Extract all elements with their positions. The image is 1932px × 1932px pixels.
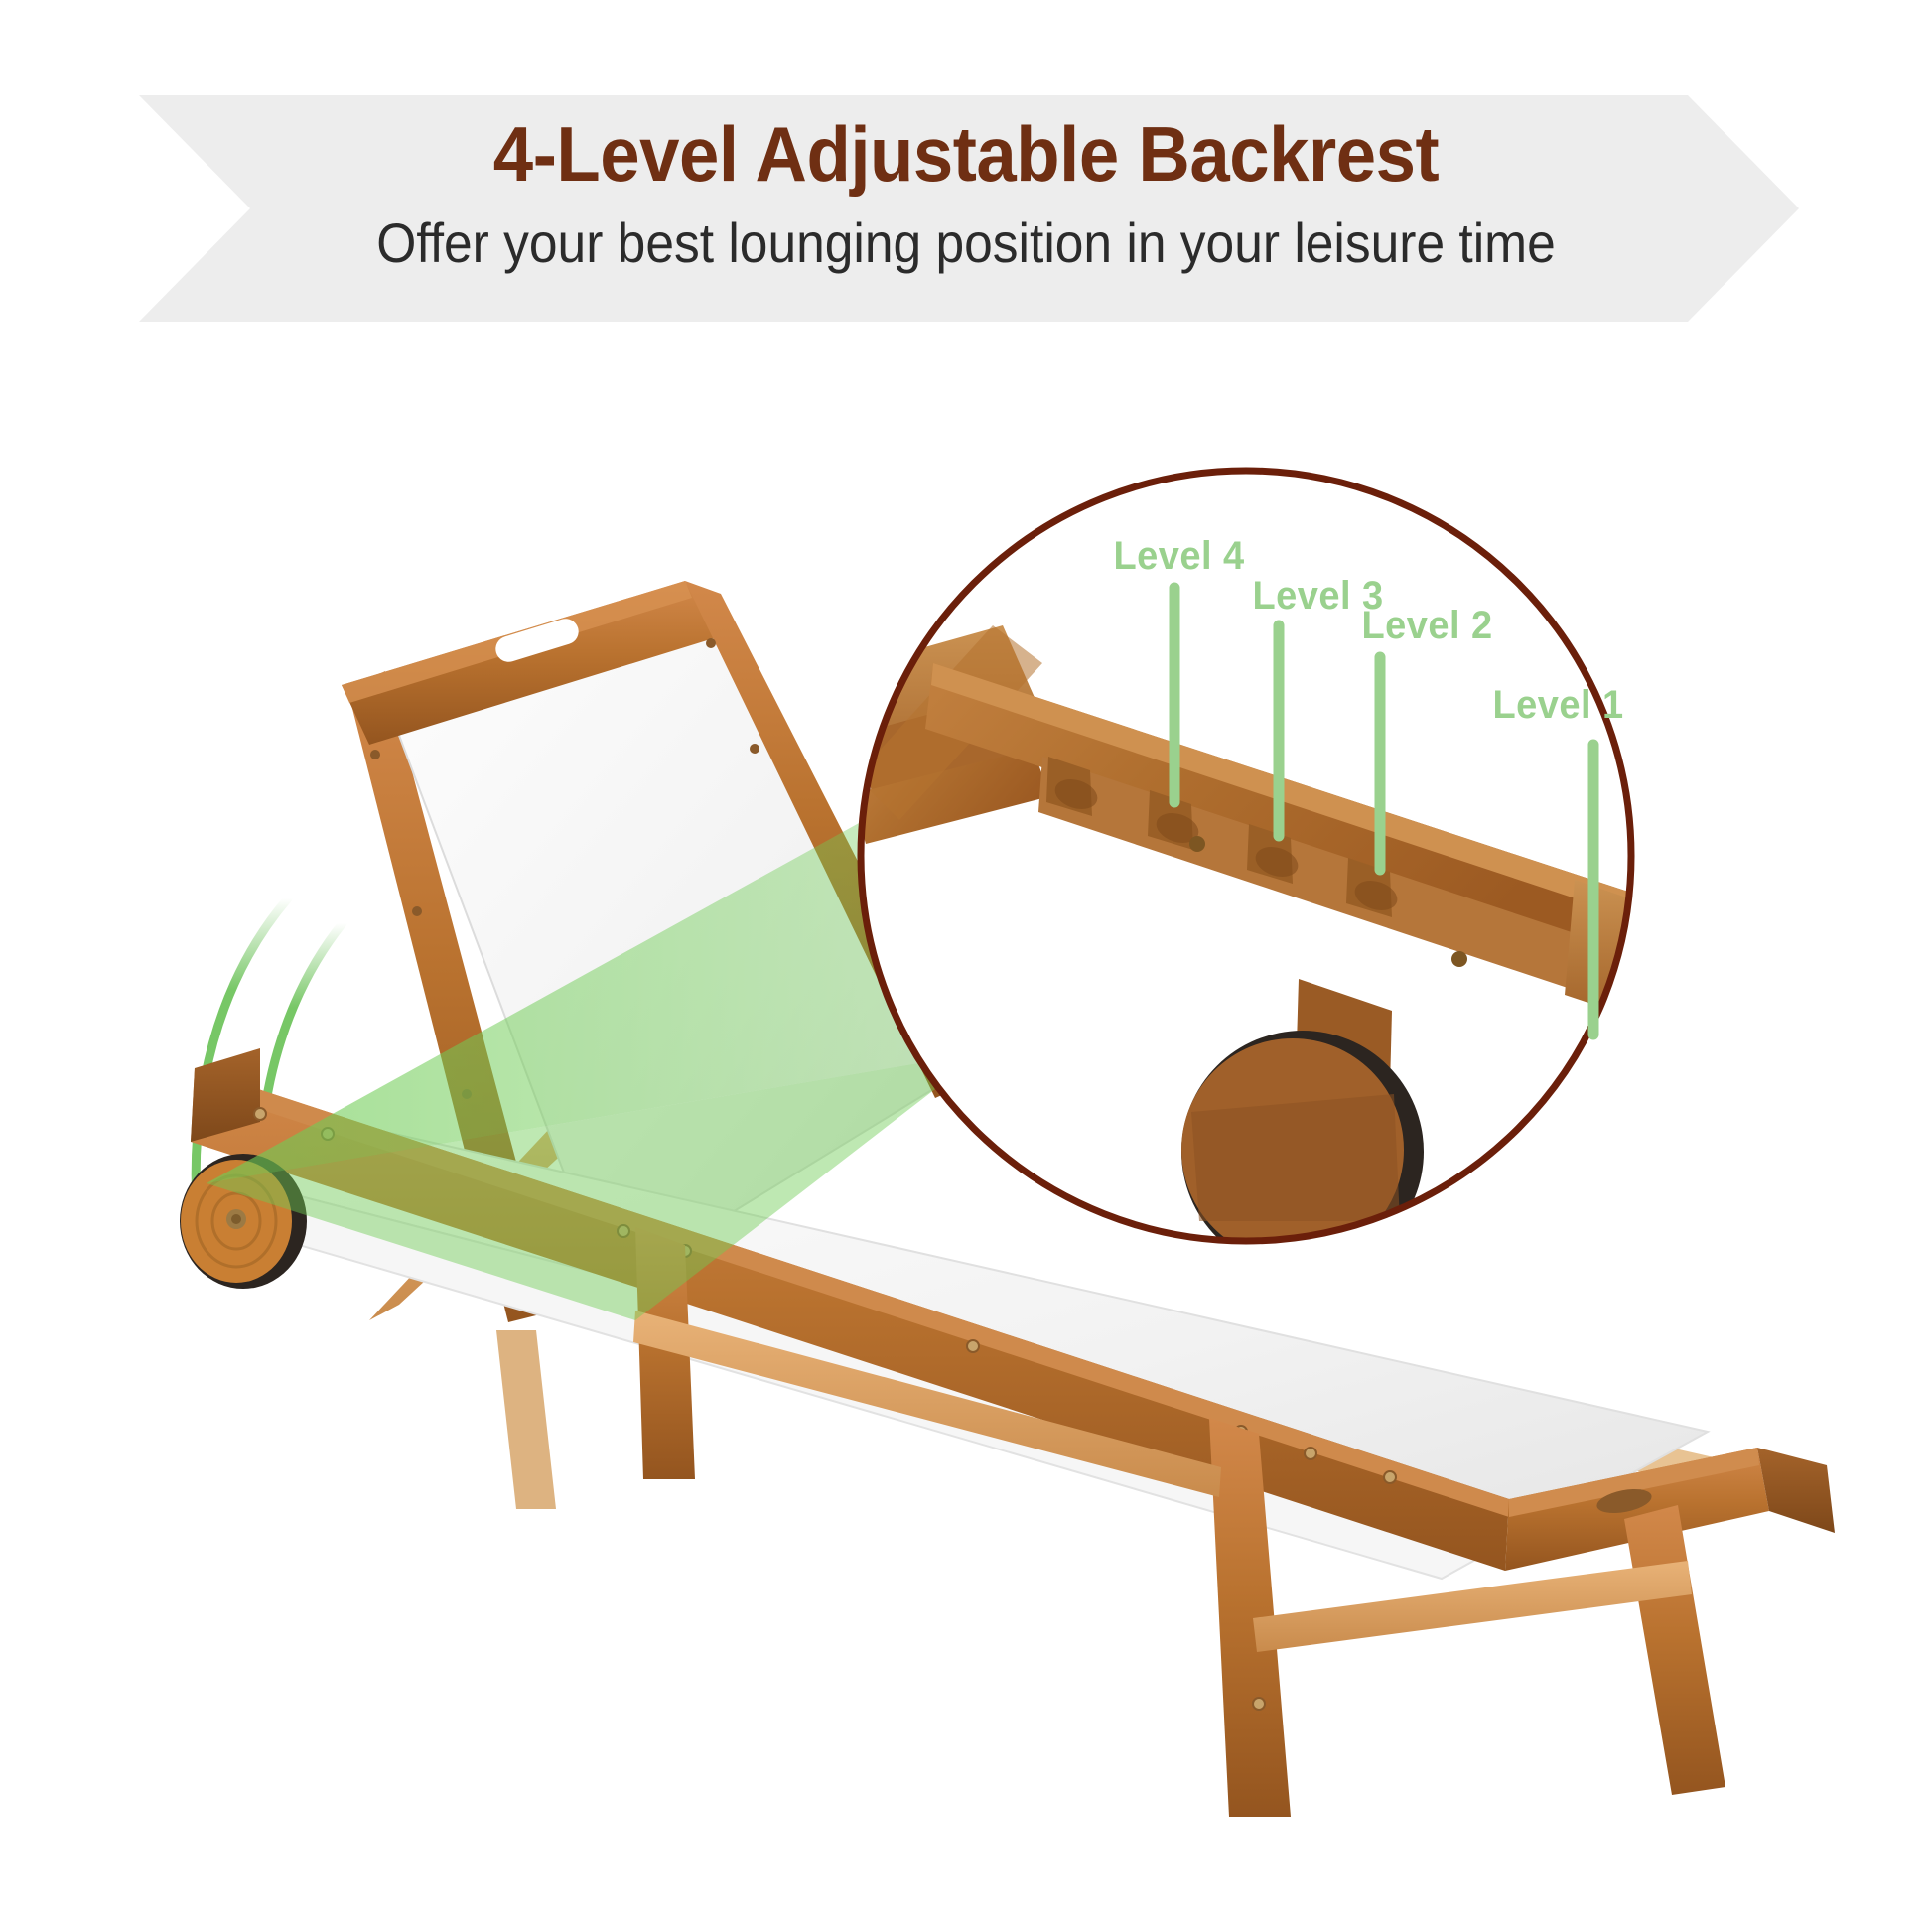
label-level-4: Level 4: [1113, 534, 1244, 579]
page-subtitle: Offer your best lounging position in you…: [77, 210, 1855, 275]
infographic-canvas: 4-Level Adjustable Backrest Offer your b…: [0, 0, 1932, 1932]
product-photo: [0, 328, 1932, 1932]
label-level-2: Level 2: [1361, 604, 1492, 648]
page-title: 4-Level Adjustable Backrest: [68, 109, 1864, 200]
label-level-1: Level 1: [1492, 683, 1623, 728]
headline-banner: 4-Level Adjustable Backrest Offer your b…: [0, 95, 1932, 322]
